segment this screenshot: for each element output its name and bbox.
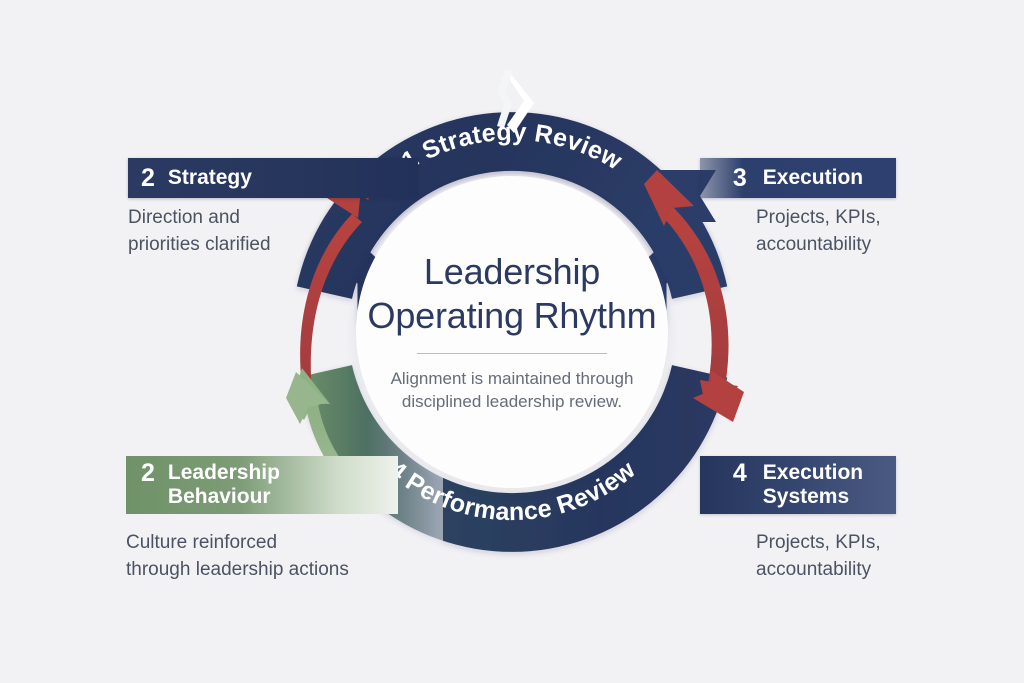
- diagram-canvas: 1 Strategy Review 4 Performance Review L…: [0, 0, 1024, 683]
- label-title-execution: Execution: [763, 166, 863, 190]
- label-title-execution-systems: Execution Systems: [763, 461, 863, 508]
- label-bar-strategy[interactable]: 2 Strategy: [128, 158, 418, 198]
- label-bar-leadership-behaviour[interactable]: 2 Leadership Behaviour: [126, 456, 398, 514]
- label-number-leadership-behaviour: 2: [141, 461, 155, 486]
- label-number-execution: 3: [733, 166, 747, 191]
- label-bar-execution[interactable]: 3 Execution: [700, 158, 896, 198]
- label-title-strategy: Strategy: [168, 166, 252, 190]
- label-bar-execution-systems[interactable]: 4 Execution Systems: [700, 456, 896, 514]
- label-desc-strategy: Direction and priorities clarified: [128, 205, 271, 259]
- label-desc-leadership-behaviour: Culture reinforced through leadership ac…: [126, 530, 349, 584]
- hub-subtitle: Alignment is maintained through discipli…: [391, 367, 634, 413]
- label-desc-execution-systems: Projects, KPIs, accountability: [756, 530, 881, 584]
- label-number-execution-systems: 4: [733, 461, 747, 486]
- hub-title: Leadership Operating Rhythm: [368, 250, 657, 338]
- hub-divider: [417, 353, 607, 354]
- label-title-leadership-behaviour: Leadership Behaviour: [168, 461, 280, 508]
- label-number-strategy: 2: [141, 166, 155, 191]
- center-hub: Leadership Operating Rhythm Alignment is…: [356, 176, 668, 488]
- label-desc-execution: Projects, KPIs, accountability: [756, 205, 881, 259]
